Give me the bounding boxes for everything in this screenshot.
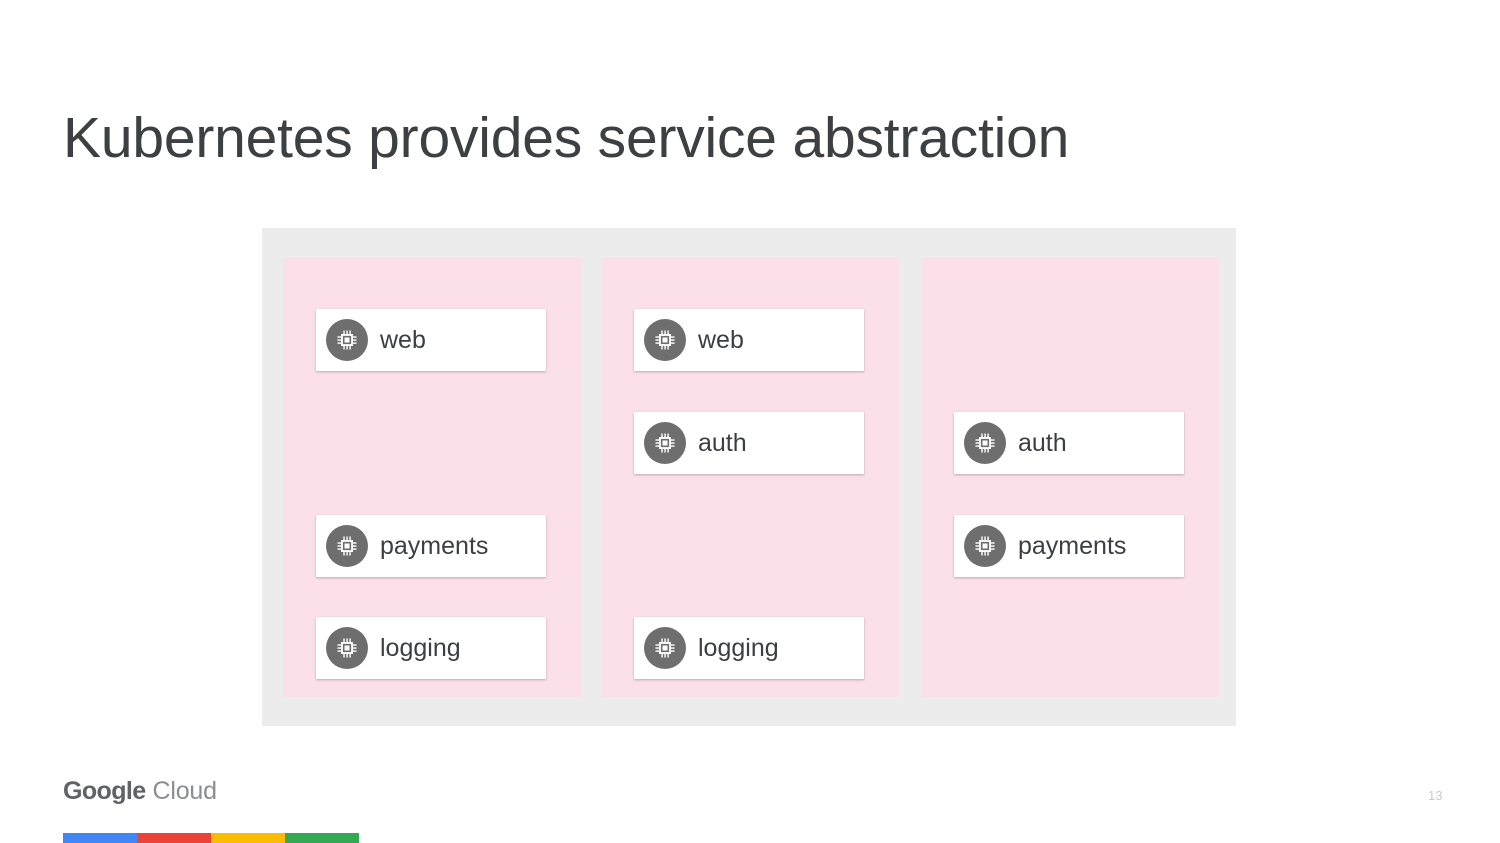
- cpu-chip-icon: [644, 627, 686, 669]
- pod-label: logging: [380, 636, 461, 661]
- logo-google-text: Google: [63, 777, 146, 806]
- cpu-chip-icon: [644, 422, 686, 464]
- cpu-chip-icon: [964, 525, 1006, 567]
- cpu-chip-icon: [964, 422, 1006, 464]
- pod-label: web: [698, 328, 744, 353]
- color-bar-segment-yellow: [211, 833, 285, 843]
- page-title: Kubernetes provides service abstraction: [63, 100, 1069, 176]
- cpu-chip-icon: [326, 525, 368, 567]
- google-cloud-logo: Google Cloud: [63, 777, 217, 806]
- pod-label: web: [380, 328, 426, 353]
- brand-color-bar: [63, 833, 359, 843]
- pod-label: auth: [1018, 431, 1067, 456]
- node-panel-3: authpayments: [921, 257, 1219, 697]
- pod-label: payments: [380, 534, 488, 559]
- pod-card[interactable]: auth: [634, 412, 864, 474]
- pod-card[interactable]: web: [634, 309, 864, 371]
- pod-card[interactable]: logging: [634, 617, 864, 679]
- pod-card[interactable]: payments: [316, 515, 546, 577]
- pod-card[interactable]: logging: [316, 617, 546, 679]
- pod-card[interactable]: web: [316, 309, 546, 371]
- pod-label: payments: [1018, 534, 1126, 559]
- pod-card[interactable]: auth: [954, 412, 1184, 474]
- pod-label: logging: [698, 636, 779, 661]
- cpu-chip-icon: [644, 319, 686, 361]
- cluster-container: webpaymentsloggingwebauthloggingauthpaym…: [262, 228, 1236, 726]
- color-bar-segment-green: [285, 833, 359, 843]
- page-number: 13: [1428, 788, 1442, 803]
- logo-cloud-text: Cloud: [153, 777, 217, 806]
- cpu-chip-icon: [326, 627, 368, 669]
- color-bar-segment-blue: [63, 833, 137, 843]
- color-bar-segment-red: [137, 833, 211, 843]
- cpu-chip-icon: [326, 319, 368, 361]
- pod-card[interactable]: payments: [954, 515, 1184, 577]
- node-panel-2: webauthlogging: [601, 257, 899, 697]
- pod-label: auth: [698, 431, 747, 456]
- node-panel-1: webpaymentslogging: [283, 257, 581, 697]
